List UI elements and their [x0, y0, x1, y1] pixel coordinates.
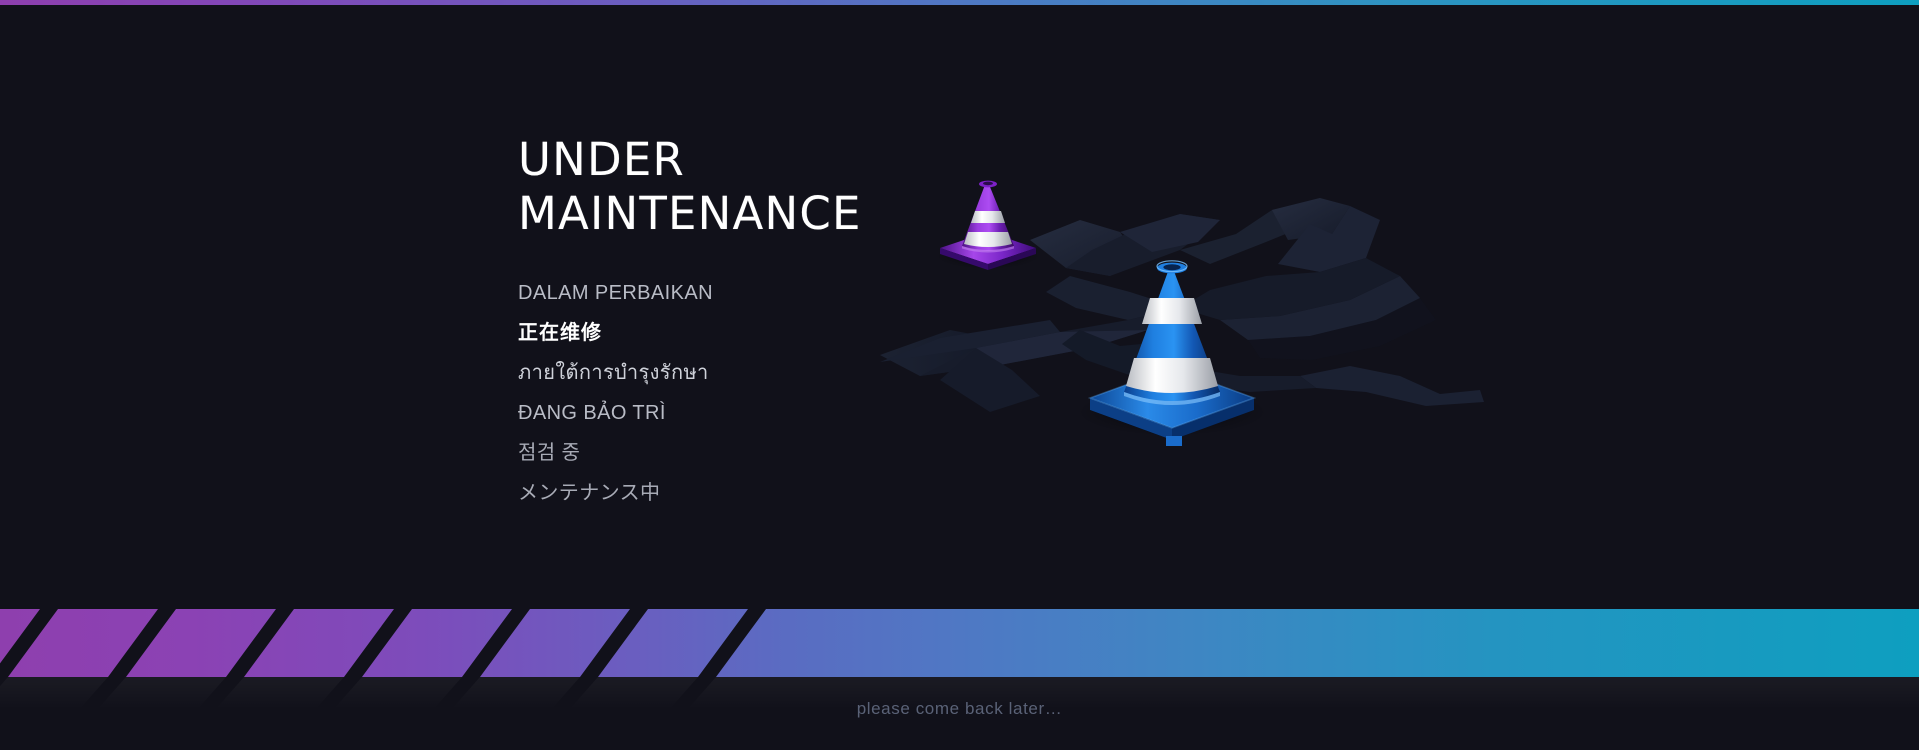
top-accent-bar — [0, 0, 1919, 5]
hazard-stripe-band — [0, 609, 1919, 677]
footer-note: please come back later… — [0, 699, 1919, 719]
traffic-cone-purple — [936, 181, 1040, 270]
maintenance-illustration — [880, 180, 1500, 510]
maintenance-page: UNDER MAINTENANCE DALAM PERBAIKAN 正在维修 ภ… — [0, 0, 1919, 750]
